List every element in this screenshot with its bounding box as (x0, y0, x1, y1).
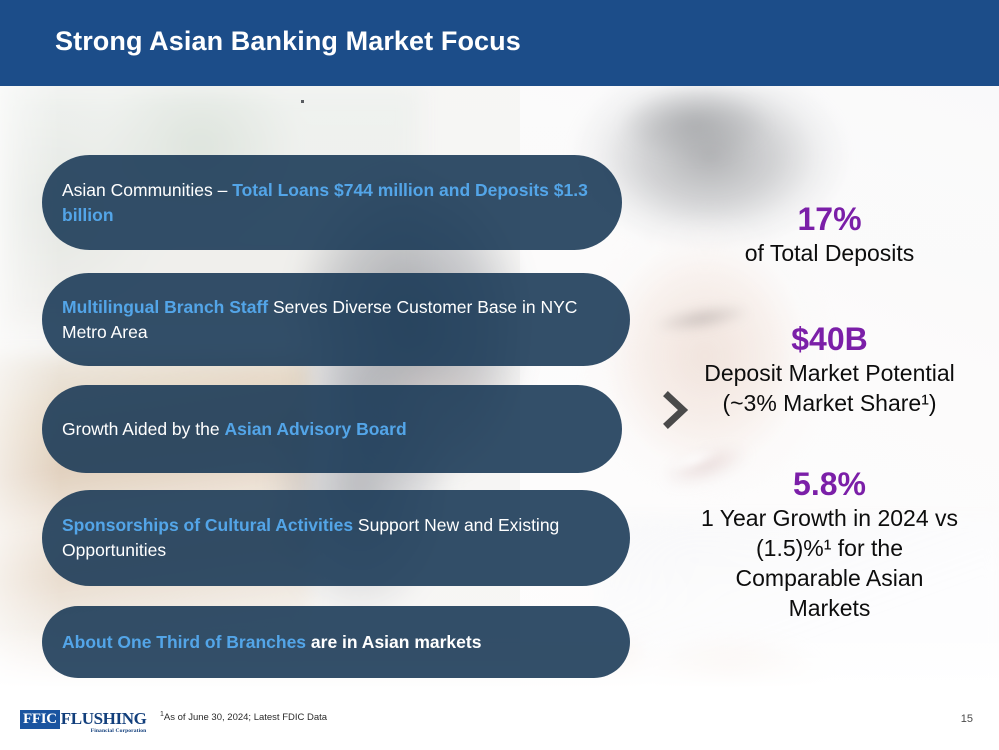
pill-2-segment-0: Multilingual Branch Staff (62, 297, 268, 317)
stat-label-line: 1 Year Growth in 2024 vs (660, 503, 999, 533)
footnote-text: As of June 30, 2024; Latest FDIC Data (164, 712, 327, 723)
callout-pill-advisory-board: Growth Aided by the Asian Advisory Board (42, 385, 622, 473)
callout-pill-branches: About One Third of Branches are in Asian… (42, 606, 630, 678)
callout-pill-text: Sponsorships of Cultural Activities Supp… (62, 513, 600, 563)
pill-3-segment-0: Growth Aided by the (62, 419, 224, 439)
stat-block-total-deposits: 17% of Total Deposits (660, 200, 999, 268)
page-number: 15 (961, 713, 973, 725)
logo-subtitle: Financial Corporation (61, 728, 147, 734)
stat-block-one-year-growth: 5.8% 1 Year Growth in 2024 vs (1.5)%¹ fo… (660, 465, 999, 623)
photo-speck (301, 100, 304, 103)
logo-word-flushing: FLUSHING (61, 710, 147, 727)
pill-5-segment-0: About One Third of Branches (62, 632, 306, 652)
stat-label-line: of Total Deposits (660, 238, 999, 268)
stat-label-line: (1.5)%¹ for the (660, 533, 999, 563)
page-title: Strong Asian Banking Market Focus (55, 26, 521, 57)
callout-pill-text: Asian Communities – Total Loans $744 mil… (62, 178, 592, 228)
callout-pill-asian-communities: Asian Communities – Total Loans $744 mil… (42, 155, 622, 250)
pill-4-segment-0: Sponsorships of Cultural Activities (62, 515, 353, 535)
stat-label-line: Markets (660, 593, 999, 623)
footnote: 1As of June 30, 2024; Latest FDIC Data (160, 712, 327, 723)
callout-pill-text: Growth Aided by the Asian Advisory Board (62, 417, 407, 442)
pill-3-segment-1: Asian Advisory Board (224, 419, 406, 439)
callout-pill-text: About One Third of Branches are in Asian… (62, 630, 481, 655)
slide-footer (0, 698, 999, 750)
callout-pill-sponsorships: Sponsorships of Cultural Activities Supp… (42, 490, 630, 586)
logo-mark-ffic: FFIC (20, 710, 60, 729)
callout-pill-multilingual-staff: Multilingual Branch Staff Serves Diverse… (42, 273, 630, 366)
company-logo: FFIC FLUSHING Financial Corporation (20, 710, 146, 734)
stat-label-line: (~3% Market Share¹) (660, 388, 999, 418)
stat-label-line: Comparable Asian (660, 563, 999, 593)
callout-pill-text: Multilingual Branch Staff Serves Diverse… (62, 295, 600, 345)
stat-block-deposit-market-potential: $40B Deposit Market Potential (~3% Marke… (660, 320, 999, 418)
pill-1-segment-0: Asian Communities – (62, 180, 232, 200)
stat-value: 17% (660, 200, 999, 238)
stat-value: $40B (660, 320, 999, 358)
stat-value: 5.8% (660, 465, 999, 503)
logo-wordmark: FLUSHING Financial Corporation (61, 710, 147, 734)
stat-label-line: Deposit Market Potential (660, 358, 999, 388)
pill-5-segment-1: are in Asian markets (306, 632, 481, 652)
slide: Strong Asian Banking Market Focus Asian … (0, 0, 999, 750)
